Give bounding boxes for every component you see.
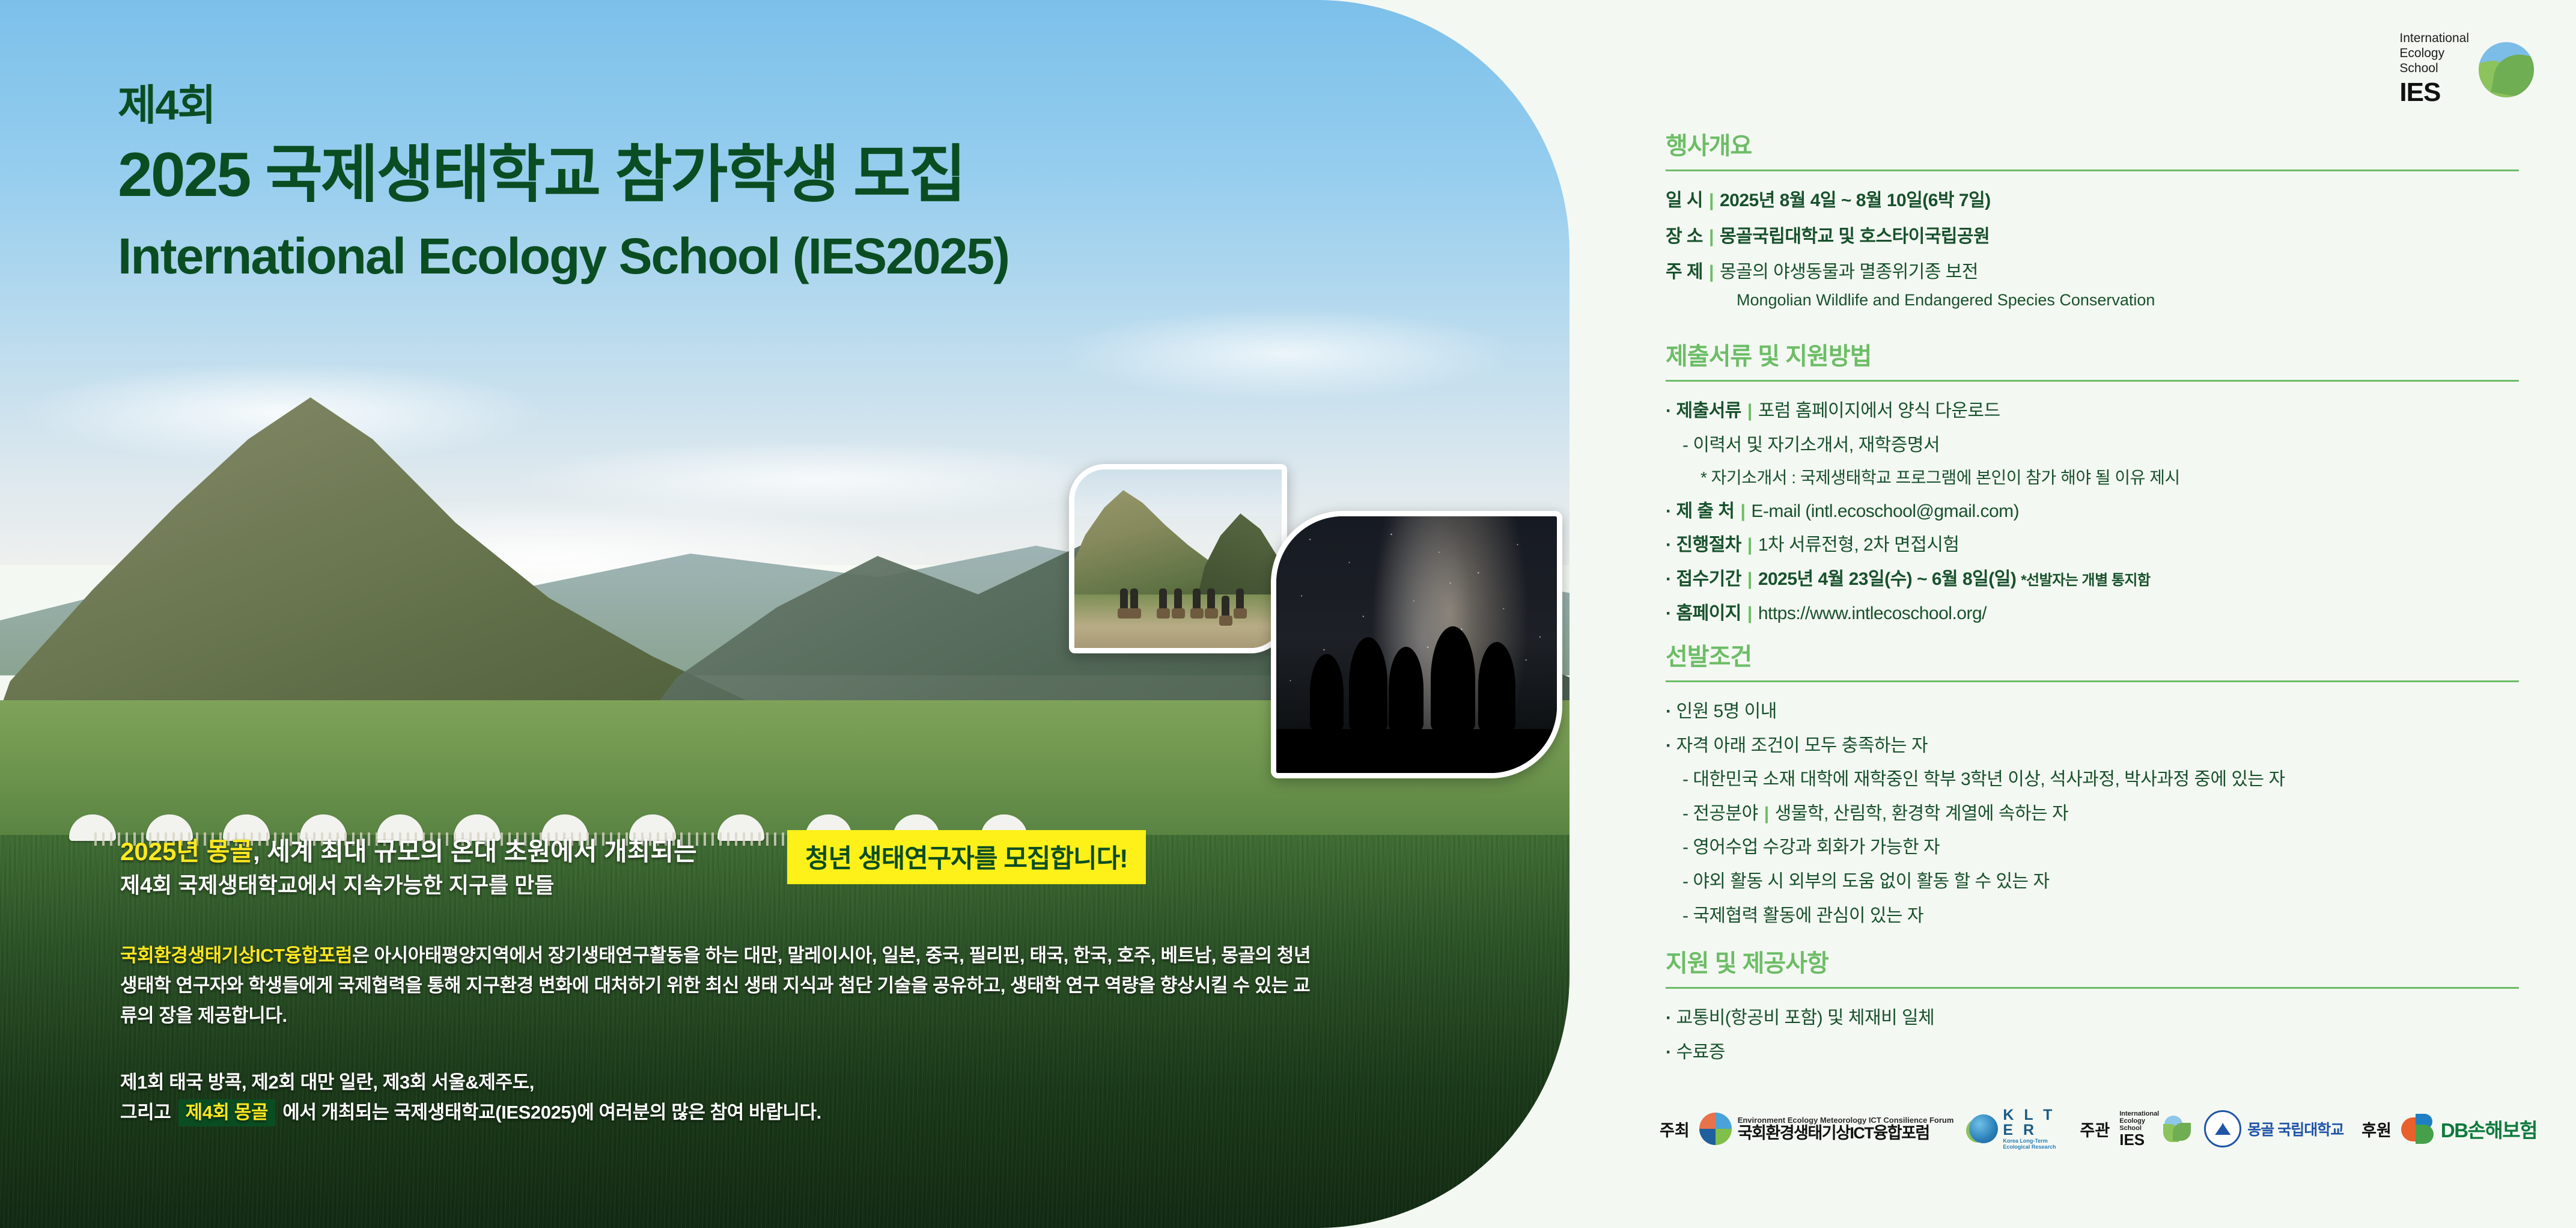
- apply-row-process: ·진행절차|1차 서류전형, 2차 면접시험: [1666, 531, 2519, 559]
- criteria-sub-enrollment: - 대한민국 소재 대학에 재학중인 학부 3학년 이상, 석사과정, 박사과정…: [1666, 766, 2519, 793]
- forum-logo-english: Environment Ecology Meteorology ICT Cons…: [1738, 1116, 1954, 1125]
- logo-mongolia-national-university: 몽골 국립대학교: [2204, 1110, 2343, 1147]
- overview-value-venue: 몽골국립대학교 및 호스타이국립공원: [1720, 227, 1990, 246]
- overview-label-venue: 장 소: [1666, 227, 1703, 246]
- footer-label-organizer: 주관: [2080, 1117, 2110, 1141]
- section-overview-title: 행사개요: [1666, 126, 2519, 161]
- logo-forum: Environment Ecology Meteorology ICT Cons…: [1699, 1113, 1954, 1145]
- inset-photo-milky-way: [1271, 511, 1562, 778]
- logo-klter: K L T E R Korea Long-Term Ecological Res…: [1969, 1108, 2062, 1150]
- footer-logos: 주최 Environment Ecology Meteorology ICT C…: [1660, 1108, 2537, 1150]
- history-line1: 제1회 태국 방콕, 제2회 대만 일란, 제3회 서울&제주도,: [120, 1072, 534, 1093]
- stargazer-silhouettes: [1276, 619, 1557, 732]
- info-panel: International Ecology School IES 행사개요 일 …: [1570, 0, 2576, 1228]
- apply-label-period: 접수기간: [1676, 569, 1741, 589]
- ies-logo-line2: Ecology: [2399, 46, 2469, 61]
- globe-icon: [1969, 1114, 1998, 1143]
- apply-row-submit: ·제 출 처|E-mail (intl.ecoschool@gmail.com): [1666, 498, 2519, 525]
- section-apply: 제출서류 및 지원방법 ·제출서류|포럼 홈페이지에서 양식 다운로드 - 이력…: [1666, 337, 2519, 627]
- ies-logo: International Ecology School IES: [2399, 31, 2534, 108]
- ies-logo-line3: School: [2399, 61, 2469, 76]
- divider: [1666, 380, 2519, 382]
- overview-label-date: 일 시: [1666, 191, 1703, 210]
- apply-doc-sub2: * 자기소개서 : 국제생태학교 프로그램에 본인이 참가 해야 될 이유 제시: [1666, 465, 2519, 491]
- apply-period-note: *선발자는 개별 통지함: [2021, 572, 2150, 588]
- history-suffix: 에서 개최되는 국제생태학교(IES2025)에 여러분의 많은 참여 바랍니다…: [282, 1102, 821, 1123]
- apply-value-submit: E-mail (intl.ecoschool@gmail.com): [1751, 501, 2019, 521]
- logo-db-insurance: DB손해보험: [2401, 1114, 2537, 1144]
- criteria-item-eligibility: ·자격 아래 조건이 모두 충족하는 자: [1666, 732, 2519, 760]
- criteria-eligibility-text: 자격 아래 조건이 모두 충족하는 자: [1676, 736, 1928, 756]
- support-travel-text: 교통비(항공비 포함) 및 체재비 일체: [1676, 1008, 1935, 1028]
- criteria-quota-text: 인원 5명 이내: [1676, 701, 1777, 721]
- history-chip: 제4회 몽골: [178, 1099, 276, 1126]
- db-mark-icon: [2401, 1114, 2436, 1144]
- ies-footer-abbr: IES: [2119, 1132, 2159, 1147]
- criteria-sub-major: - 전공분야|생물학, 산림학, 환경학 계열에 속하는 자: [1666, 800, 2519, 828]
- leaf-globe-icon: [2479, 42, 2534, 97]
- history-paragraph: 제1회 태국 방콕, 제2회 대만 일란, 제3회 서울&제주도, 그리고 제4…: [120, 1068, 1316, 1128]
- poster-root: 제4회 2025 국제생태학교 참가학생 모집 International Ec…: [0, 0, 2576, 1228]
- criteria-major-value: 생물학, 산림학, 환경학 계열에 속하는 자: [1775, 804, 2068, 823]
- divider: [1666, 680, 2519, 682]
- divider: [1666, 170, 2519, 171]
- section-support-title: 지원 및 제공사항: [1666, 944, 2519, 979]
- apply-row-period: ·접수기간|2025년 4월 23일(수) ~ 6월 8일(일) *선발자는 개…: [1666, 566, 2519, 593]
- ies-logo-line1: International: [2399, 31, 2469, 46]
- overview-row-date: 일 시|2025년 8월 4일 ~ 8월 10일(6박 7일): [1666, 187, 2519, 215]
- apply-value-website[interactable]: https://www.intlecoschool.org/: [1758, 603, 1987, 623]
- tagline-rest: , 세계 최대 규모의 온대 초원에서 개최되는: [253, 837, 697, 866]
- criteria-sub-interest: - 국제협력 활동에 관심이 있는 자: [1666, 902, 2519, 930]
- section-criteria: 선발조건 ·인원 5명 이내 ·자격 아래 조건이 모두 충족하는 자 - 대한…: [1666, 637, 2519, 929]
- leaf-globe-small-icon: [2163, 1116, 2191, 1142]
- hero-photo: 제4회 2025 국제생태학교 참가학생 모집 International Ec…: [0, 0, 1570, 1228]
- ies-logo-wordmark: International Ecology School IES: [2399, 31, 2469, 108]
- ies-footer-line2: Ecology: [2119, 1117, 2159, 1125]
- apply-row-documents: ·제출서류|포럼 홈페이지에서 양식 다운로드: [1666, 397, 2519, 425]
- criteria-major-label: - 전공분야: [1682, 804, 1758, 823]
- university-seal-icon: [2204, 1110, 2241, 1147]
- klter-subtext: Korea Long-Term Ecological Research: [2003, 1138, 2062, 1150]
- tagline-line1: 2025년 몽골, 세계 최대 규모의 온대 초원에서 개최되는: [120, 836, 697, 868]
- apply-value-documents: 포럼 홈페이지에서 양식 다운로드: [1758, 401, 2000, 421]
- history-prefix: 그리고: [120, 1102, 171, 1123]
- footer-label-sponsor: 후원: [2361, 1117, 2392, 1141]
- section-criteria-title: 선발조건: [1666, 637, 2519, 672]
- ies-footer-line1: International: [2119, 1110, 2159, 1117]
- ies-logo-abbr: IES: [2399, 77, 2469, 108]
- forum-name-highlight: 국회환경생태기상ICT융합포럼: [120, 945, 352, 966]
- page-title-ko: 2025 국제생태학교 참가학생 모집: [118, 141, 964, 209]
- overview-row-theme: 주 제|몽골의 야생동물과 멸종위기종 보전: [1666, 258, 2519, 286]
- forum-logo-korean: 국회환경생태기상ICT융합포럼: [1738, 1125, 1954, 1141]
- section-overview: 행사개요 일 시|2025년 8월 4일 ~ 8월 10일(6박 7일) 장 소…: [1666, 126, 2519, 310]
- inset-photo-horse-riders: [1069, 464, 1287, 653]
- criteria-sub-english: - 영어수업 수강과 회화가 가능한 자: [1666, 834, 2519, 861]
- logo-ies-footer: International Ecology School IES: [2119, 1110, 2191, 1148]
- tagline-highlight: 2025년 몽골: [120, 837, 253, 866]
- section-apply-title: 제출서류 및 지원방법: [1666, 337, 2519, 371]
- overview-value-theme: 몽골의 야생동물과 멸종위기종 보전: [1720, 262, 1978, 282]
- apply-row-website[interactable]: ·홈페이지|https://www.intlecoschool.org/: [1666, 600, 2519, 628]
- criteria-item-quota: ·인원 5명 이내: [1666, 698, 2519, 725]
- callout-banner: 청년 생태연구자를 모집합니다!: [787, 830, 1146, 884]
- divider: [1666, 987, 2519, 989]
- footer-label-host: 주최: [1660, 1117, 1690, 1141]
- overview-label-theme: 주 제: [1666, 262, 1703, 282]
- criteria-sub-fieldwork: - 야외 활동 시 외부의 도움 없이 활동 할 수 있는 자: [1666, 868, 2519, 896]
- apply-label-submit: 제 출 처: [1676, 501, 1735, 521]
- section-support: 지원 및 제공사항 ·교통비(항공비 포함) 및 체재비 일체 ·수료증: [1666, 944, 2519, 1066]
- overview-value-date: 2025년 8월 4일 ~ 8월 10일(6박 7일): [1720, 191, 1991, 210]
- apply-doc-sub1: - 이력서 및 자기소개서, 재학증명서: [1666, 432, 2519, 459]
- support-item-travel: ·교통비(항공비 포함) 및 체재비 일체: [1666, 1004, 2519, 1032]
- apply-value-process: 1차 서류전형, 2차 면접시험: [1758, 535, 1959, 555]
- mnu-wordmark: 몽골 국립대학교: [2247, 1118, 2343, 1140]
- apply-value-period: 2025년 4월 23일(수) ~ 6월 8일(일): [1758, 569, 2017, 589]
- db-wordmark: DB손해보험: [2441, 1114, 2537, 1143]
- apply-label-documents: 제출서류: [1676, 401, 1741, 421]
- overview-theme-english: Mongolian Wildlife and Endangered Specie…: [1666, 291, 2519, 310]
- intro-paragraph: 국회환경생태기상ICT융합포럼은 아시아태평양지역에서 장기생태연구활동을 하는…: [120, 941, 1316, 1031]
- tagline-line2: 제4회 국제생태학교에서 지속가능한 지구를 만들: [120, 872, 554, 899]
- support-item-certificate: ·수료증: [1666, 1039, 2519, 1066]
- apply-label-process: 진행절차: [1676, 535, 1741, 555]
- overview-row-venue: 장 소|몽골국립대학교 및 호스타이국립공원: [1666, 223, 2519, 251]
- apply-label-website: 홈페이지: [1676, 603, 1741, 623]
- episode-label: 제4회: [118, 84, 215, 126]
- klter-wordmark: K L T E R: [2003, 1108, 2062, 1138]
- page-title-en: International Ecology School (IES2025): [118, 228, 1009, 284]
- support-certificate-text: 수료증: [1676, 1042, 1725, 1062]
- forum-swirl-icon: [1699, 1113, 1732, 1145]
